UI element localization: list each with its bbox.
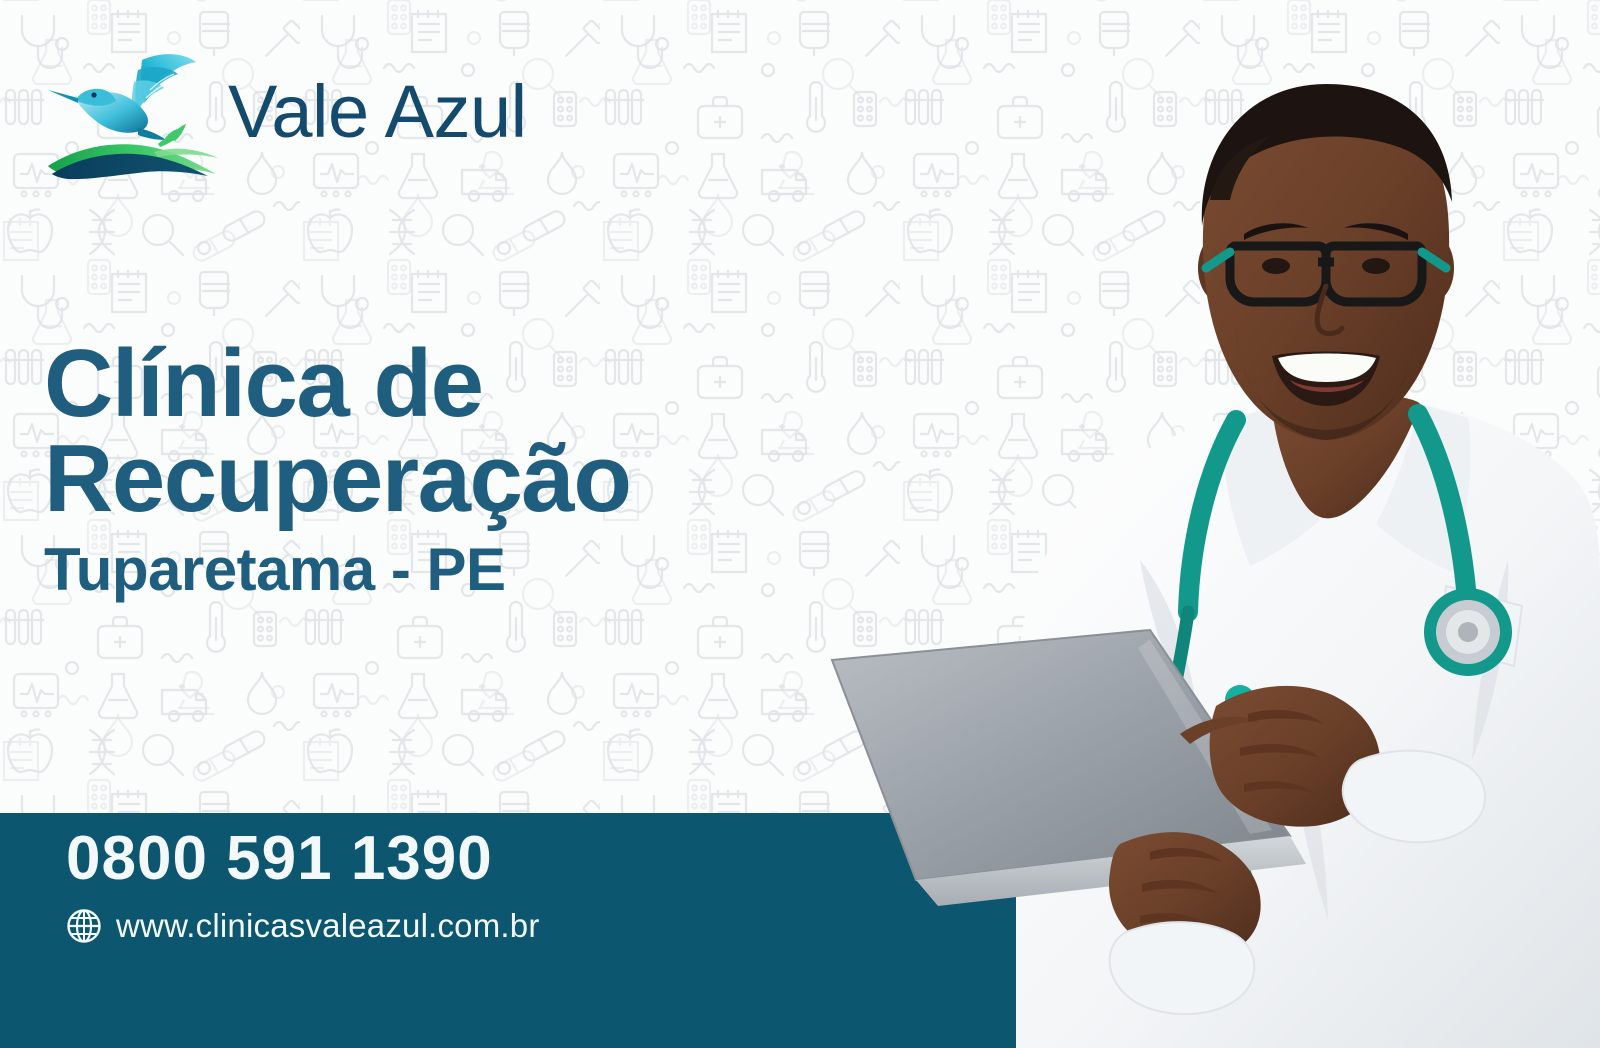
promo-banner: Vale Azul: [0, 0, 1600, 1048]
hummingbird-leaf-logo-icon: [46, 48, 228, 180]
website-row[interactable]: www.clinicasvaleazul.com.br: [66, 907, 540, 945]
phone-number[interactable]: 0800 591 1390: [66, 826, 540, 891]
headline-line-1: Clínica de: [44, 330, 482, 437]
headline-line-2: Recuperação: [44, 431, 630, 526]
globe-icon: [66, 908, 102, 944]
location-subtitle: Tuparetama - PE: [44, 538, 630, 601]
page-title: Clínica de Recuperação: [44, 336, 630, 526]
headline-block: Clínica de Recuperação Tuparetama - PE: [44, 336, 630, 601]
website-url: www.clinicasvaleazul.com.br: [116, 907, 540, 945]
brand-wordmark: Vale Azul: [228, 75, 527, 149]
footer-contact-block: 0800 591 1390 www.clinicasvaleazul.com.b…: [66, 826, 540, 945]
brand-logo[interactable]: Vale Azul: [46, 48, 527, 180]
